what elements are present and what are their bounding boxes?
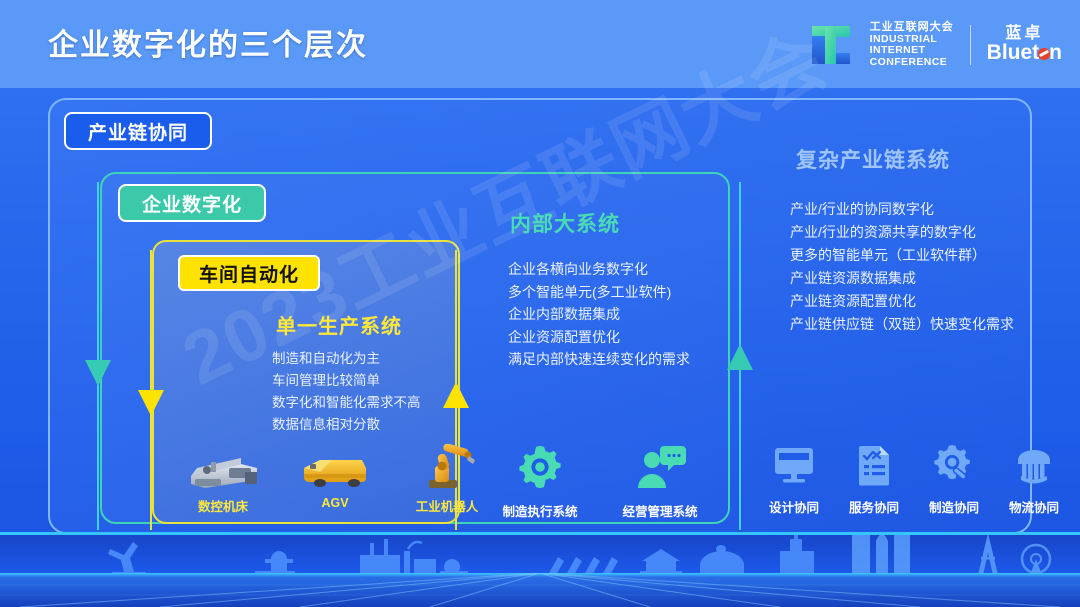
icon-row-systems: 制造执行系统 经营管理系统 xyxy=(500,444,700,520)
list-item: 产业链资源数据集成 xyxy=(790,267,1014,290)
brand-name-cn: 蓝卓 xyxy=(987,26,1062,43)
industrial-robot-icon xyxy=(417,446,477,490)
brand-name-en: Bluetn xyxy=(987,42,1062,64)
list-right-column: 产业/行业的协同数字化 产业/行业的资源共享的数字化 更多的智能单元（工业软件群… xyxy=(790,198,1014,336)
person-chat-icon xyxy=(634,444,686,495)
icon-cell-mes[interactable]: 制造执行系统 xyxy=(500,444,580,520)
arrow-line-teal-left xyxy=(97,182,99,530)
conference-name-en-3: CONFERENCE xyxy=(870,57,954,68)
list-item: 数据信息相对分散 xyxy=(272,414,421,436)
agv-vehicle-icon xyxy=(300,446,370,490)
slide-header: 企业数字化的三个层次 xyxy=(0,0,1080,88)
list-item: 多个智能单元(多工业软件) xyxy=(508,281,690,304)
gear-search-icon xyxy=(933,444,975,491)
icon-label: 经营管理系统 xyxy=(622,501,697,520)
document-check-icon xyxy=(853,444,895,491)
icon-label: 工业机器人 xyxy=(416,496,479,515)
icon-cell-manufacturing-collab[interactable]: 制造协同 xyxy=(928,444,980,516)
gear-icon xyxy=(516,444,564,495)
skyline-right-extra xyxy=(1040,532,1080,577)
list-item: 产业链资源配置优化 xyxy=(790,290,1014,313)
list-item: 产业链供应链（双链）快速变化需求 xyxy=(790,313,1014,336)
arrow-down-teal-left-icon xyxy=(85,360,111,386)
list-item: 满足内部快速连续变化的需求 xyxy=(508,348,690,371)
list-item: 产业/行业的协同数字化 xyxy=(790,198,1014,221)
arrow-up-teal-right-icon xyxy=(727,344,753,370)
conference-t-logo-icon xyxy=(810,22,858,68)
icon-label: 制造协同 xyxy=(929,497,979,516)
icon-cell-agv[interactable]: AGV xyxy=(292,446,378,515)
icon-label: 制造执行系统 xyxy=(502,501,577,520)
heading-internal-big-system: 内部大系统 xyxy=(510,208,620,238)
heading-complex-chain-system: 复杂产业链系统 xyxy=(796,144,950,174)
brand-lockup: 蓝卓 Bluetn xyxy=(987,26,1062,65)
page-title: 企业数字化的三个层次 xyxy=(48,20,368,64)
list-item: 数字化和智能化需求不高 xyxy=(272,392,421,414)
list-item: 企业资源配置优化 xyxy=(508,326,690,349)
monitor-icon xyxy=(773,444,815,491)
list-item: 企业内部数据集成 xyxy=(508,303,690,326)
icon-cell-design-collab[interactable]: 设计协同 xyxy=(768,444,820,516)
arrow-down-yellow-left-icon xyxy=(138,390,164,416)
icon-label: AGV xyxy=(321,496,348,510)
logo-divider xyxy=(970,25,971,65)
brand-name-en-left: Bluet xyxy=(987,41,1040,64)
icon-label: 设计协同 xyxy=(769,497,819,516)
icon-cell-service-collab[interactable]: 服务协同 xyxy=(848,444,900,516)
icon-cell-industrial-robot[interactable]: 工业机器人 xyxy=(404,446,490,515)
icon-label: 服务协同 xyxy=(849,497,899,516)
list-item: 产业/行业的资源共享的数字化 xyxy=(790,221,1014,244)
label-enterprise-digital[interactable]: 企业数字化 xyxy=(118,184,266,222)
city-skyline-icon xyxy=(0,532,1080,577)
label-workshop-automation[interactable]: 车间自动化 xyxy=(178,255,320,291)
conference-name-en-2: INTERNET xyxy=(870,45,954,56)
slide-canvas: 企业数字化的三个层次 xyxy=(0,0,1080,607)
list-middle-column: 企业各横向业务数字化 多个智能单元(多工业软件) 企业内部数据集成 企业资源配置… xyxy=(508,258,690,371)
icon-cell-logistics-collab[interactable]: 物流协同 xyxy=(1008,444,1060,516)
brand-name-en-right: n xyxy=(1049,41,1062,64)
icon-label: 数控机床 xyxy=(198,496,248,515)
icon-cell-erp[interactable]: 经营管理系统 xyxy=(620,444,700,520)
icon-cell-cnc-machine[interactable]: 数控机床 xyxy=(180,446,266,515)
icon-label: 物流协同 xyxy=(1009,497,1059,516)
list-item: 更多的智能单元（工业软件群） xyxy=(790,244,1014,267)
label-industry-chain[interactable]: 产业链协同 xyxy=(64,112,212,150)
icon-row-machines: 数控机床 AGV xyxy=(180,446,490,515)
heading-single-production-system: 单一生产系统 xyxy=(276,310,402,339)
logo-lockup: 工业互联网大会 INDUSTRIAL INTERNET CONFERENCE 蓝… xyxy=(810,22,1062,68)
perspective-floor xyxy=(0,573,1080,607)
floor-grid-lines xyxy=(0,573,1080,607)
list-item: 制造和自动化为主 xyxy=(272,348,421,370)
bottom-skyline-band xyxy=(0,532,1080,607)
conference-name: 工业互联网大会 INDUSTRIAL INTERNET CONFERENCE xyxy=(870,22,954,68)
list-left-column: 制造和自动化为主 车间管理比较简单 数字化和智能化需求不高 数据信息相对分散 xyxy=(272,348,421,436)
list-item: 企业各横向业务数字化 xyxy=(508,258,690,281)
arrow-up-yellow-right-icon xyxy=(443,382,469,408)
cnc-machine-icon xyxy=(185,446,261,490)
icon-row-collaboration: 设计协同 服务协同 xyxy=(768,444,1060,516)
list-item: 车间管理比较简单 xyxy=(272,370,421,392)
logistics-hand-icon xyxy=(1013,444,1055,491)
